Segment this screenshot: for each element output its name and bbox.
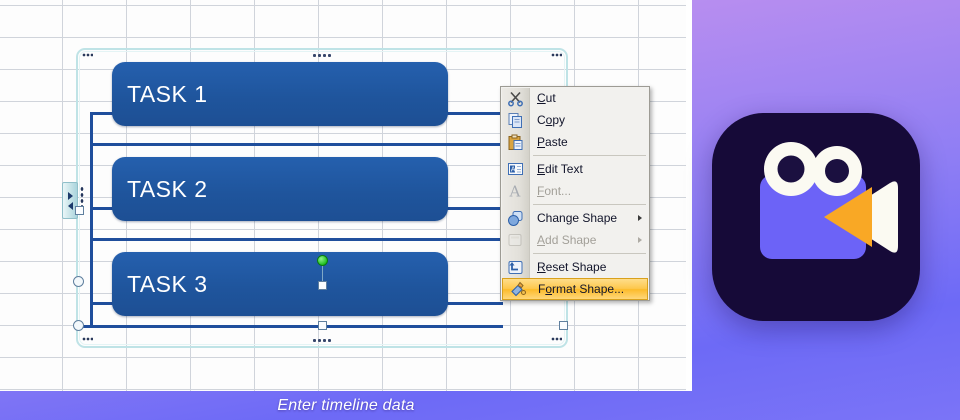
caption-text: Enter timeline data	[277, 397, 414, 415]
frame-corner-grip-bottom-left	[82, 337, 93, 343]
add-shape-icon	[506, 231, 525, 250]
edit-text-icon: A	[506, 160, 525, 179]
chevron-right-icon	[68, 192, 73, 200]
scissors-icon	[506, 89, 525, 108]
smartart-shape-task-3[interactable]: TASK 3	[112, 252, 448, 316]
submenu-arrow-icon	[638, 237, 642, 243]
menu-item-add-shape: Add Shape	[501, 229, 649, 251]
smartart-shape-task-1[interactable]: TASK 1	[112, 62, 448, 126]
reset-shape-icon	[506, 258, 525, 277]
menu-item-copy[interactable]: Copy	[501, 109, 649, 131]
menu-item-edit-text[interactable]: A Edit Text	[501, 158, 649, 180]
menu-item-label: Font...	[537, 184, 571, 198]
resize-handle-upper-left[interactable]	[75, 206, 84, 215]
menu-item-cut[interactable]: Cut	[501, 87, 649, 109]
shape-label-task-1: TASK 1	[112, 81, 208, 108]
copy-icon	[506, 111, 525, 130]
frame-corner-grip-bottom-right	[551, 337, 562, 343]
menu-item-label: Edit Text	[537, 162, 583, 176]
resize-handle-top-center[interactable]	[318, 281, 327, 290]
menu-item-label: Paste	[537, 135, 568, 149]
reel-right-inner	[825, 159, 849, 183]
frame-grip-bottom-center[interactable]	[312, 338, 332, 343]
menu-item-label: Add Shape	[537, 233, 596, 247]
app-icon[interactable]	[712, 113, 920, 321]
reel-left-inner	[778, 156, 805, 183]
menu-item-label: Format Shape...	[538, 282, 624, 296]
menu-item-format-shape[interactable]: Format Shape...	[502, 278, 648, 300]
screen-recorder-icon	[712, 113, 920, 321]
resize-handle-left-middle[interactable]	[73, 276, 84, 287]
menu-separator	[533, 204, 646, 205]
menu-item-label: Change Shape	[537, 211, 617, 225]
shape-label-task-3: TASK 3	[112, 271, 208, 298]
paste-icon	[506, 133, 525, 152]
resize-handle-bottom-right[interactable]	[559, 321, 568, 330]
frame-grip-top-center[interactable]	[312, 53, 332, 58]
rotation-handle[interactable]	[317, 255, 328, 266]
spreadsheet-panel[interactable]: TASK 1 TASK 2 TASK 3 Cut Copy	[0, 0, 692, 391]
svg-text:A: A	[509, 183, 521, 201]
caption-bar: Enter timeline data	[0, 391, 692, 420]
font-icon: A	[506, 182, 525, 201]
frame-corner-grip-top-left	[82, 53, 93, 59]
menu-item-label: Copy	[537, 113, 565, 127]
chevron-left-icon	[68, 202, 73, 210]
svg-text:A: A	[511, 166, 516, 174]
shape-label-task-2: TASK 2	[112, 176, 208, 203]
format-shape-icon	[508, 280, 527, 299]
smartart-shape-task-2[interactable]: TASK 2	[112, 157, 448, 221]
menu-item-label: Reset Shape	[537, 260, 606, 274]
menu-item-change-shape[interactable]: Change Shape	[501, 207, 649, 229]
menu-separator	[533, 253, 646, 254]
menu-item-paste[interactable]: Paste	[501, 131, 649, 153]
submenu-arrow-icon	[638, 215, 642, 221]
change-shape-icon	[506, 209, 525, 228]
spreadsheet-right-margin	[686, 0, 692, 391]
menu-item-font: AFont...	[501, 180, 649, 202]
menu-item-label: Cut	[537, 91, 556, 105]
menu-separator	[533, 155, 646, 156]
frame-corner-grip-top-right	[551, 53, 562, 59]
shape-context-menu[interactable]: Cut Copy Paste A Edit TextAFont... Chang…	[500, 86, 650, 301]
screenshot-stage: TASK 1 TASK 2 TASK 3 Cut Copy	[0, 0, 960, 420]
menu-item-reset-shape[interactable]: Reset Shape	[501, 256, 649, 278]
context-menu-items: Cut Copy Paste A Edit TextAFont... Chang…	[501, 87, 649, 300]
resize-handle-bottom-center[interactable]	[318, 321, 327, 330]
resize-handle-bottom-left[interactable]	[73, 320, 84, 331]
